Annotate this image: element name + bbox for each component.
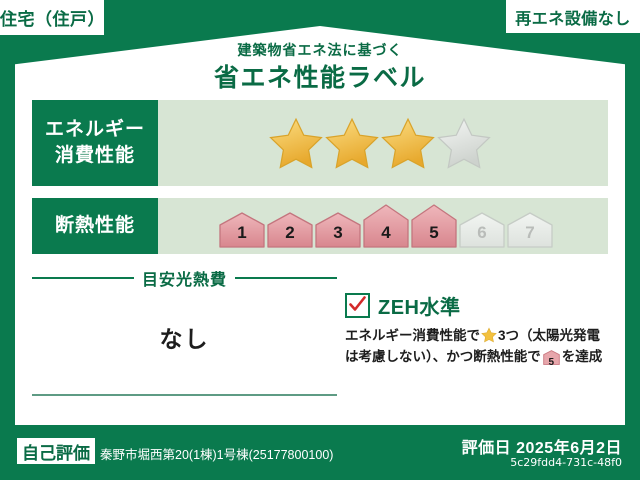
- row-energy-label: エネルギー 消費性能: [32, 100, 158, 186]
- evaluation-date: 評価日 2025年6月2日: [462, 434, 622, 458]
- property-address: 秦野市堀西第20(1棟)1号棟(25177800100): [100, 444, 333, 463]
- row-energy-body: [158, 100, 608, 186]
- footer: 自己評価 秦野市堀西第20(1棟)1号棟(25177800100) 評価日 20…: [0, 425, 640, 480]
- zeh-desc-part1: エネルギー消費性能で: [345, 328, 480, 343]
- insulation-level-1: 1: [219, 212, 265, 248]
- star-icon-filled: [325, 116, 379, 170]
- house-icon-inline: 5: [543, 350, 560, 372]
- insulation-level-7: 7: [507, 212, 553, 248]
- check-icon: [348, 295, 367, 314]
- star-icon-inline: [481, 327, 497, 343]
- row-insulation-body: 1234567: [158, 198, 608, 254]
- insulation-level-6: 6: [459, 212, 505, 248]
- zeh-section: ZEH水準 エネルギー消費性能で3つ（太陽光発電 は考慮しない）、かつ断熱性能で…: [345, 291, 613, 372]
- utility-cost-bottom-rule: [32, 394, 337, 396]
- panel-content: エネルギー 消費性能 断熱性能 1234567 目安光熱費 なし: [0, 88, 640, 425]
- badge-building-type: 住宅（住戸）: [0, 0, 104, 35]
- row-insulation-label-text: 断熱性能: [55, 213, 135, 239]
- star-icon-filled: [269, 116, 323, 170]
- badge-renewable-energy: 再エネ設備なし: [506, 0, 640, 33]
- insulation-level-5: 5: [411, 204, 457, 248]
- utility-cost-heading: 目安光熱費: [142, 266, 227, 290]
- row-insulation-label: 断熱性能: [32, 198, 158, 254]
- utility-cost-heading-row: 目安光熱費: [32, 266, 337, 290]
- house-icon-filled: [219, 212, 265, 248]
- heading-rule-right: [235, 277, 337, 279]
- zeh-desc-star-count: 3つ（太陽光発電: [498, 328, 600, 343]
- house-icon-filled: [363, 204, 409, 248]
- house-icon-empty: [459, 212, 505, 248]
- zeh-desc-part2: は考慮しない）、かつ断熱性能で: [345, 349, 541, 364]
- self-evaluation-badge: 自己評価: [17, 438, 95, 464]
- insulation-scale: 1234567: [219, 204, 553, 248]
- row-energy-label-line1: エネルギー: [45, 117, 145, 143]
- row-insulation-performance: 断熱性能 1234567: [32, 198, 608, 254]
- label-subtitle: 建築物省エネ法に基づく: [0, 40, 640, 60]
- house-icon-filled: [315, 212, 361, 248]
- star-icon-empty: [437, 116, 491, 170]
- insulation-level-2: 2: [267, 212, 313, 248]
- energy-performance-label: 住宅（住戸） 再エネ設備なし 建築物省エネ法に基づく 省エネ性能ラベル エネルギ…: [0, 0, 640, 480]
- row-energy-label-line2: 消費性能: [55, 143, 135, 169]
- utility-cost-section: 目安光熱費 なし: [32, 266, 337, 354]
- zeh-checkbox[interactable]: [345, 293, 370, 318]
- insulation-level-3: 3: [315, 212, 361, 248]
- house-icon-filled: [411, 204, 457, 248]
- row-energy-performance: エネルギー 消費性能: [32, 100, 608, 186]
- star-icon-filled: [381, 116, 435, 170]
- zeh-description: エネルギー消費性能で3つ（太陽光発電 は考慮しない）、かつ断熱性能で5を達成: [345, 326, 613, 372]
- house-icon-filled: [267, 212, 313, 248]
- house-icon-number: 5: [543, 355, 560, 371]
- house-icon-empty: [507, 212, 553, 248]
- heading-rule-left: [32, 277, 134, 279]
- zeh-title: ZEH水準: [378, 291, 461, 320]
- star-rating: [269, 116, 491, 170]
- utility-cost-value: なし: [32, 320, 337, 354]
- zeh-desc-part3: を達成: [562, 349, 603, 364]
- evaluation-id: 5c29fdd4-731c-48f0: [510, 456, 622, 469]
- insulation-level-4: 4: [363, 204, 409, 248]
- zeh-heading-row: ZEH水準: [345, 291, 613, 320]
